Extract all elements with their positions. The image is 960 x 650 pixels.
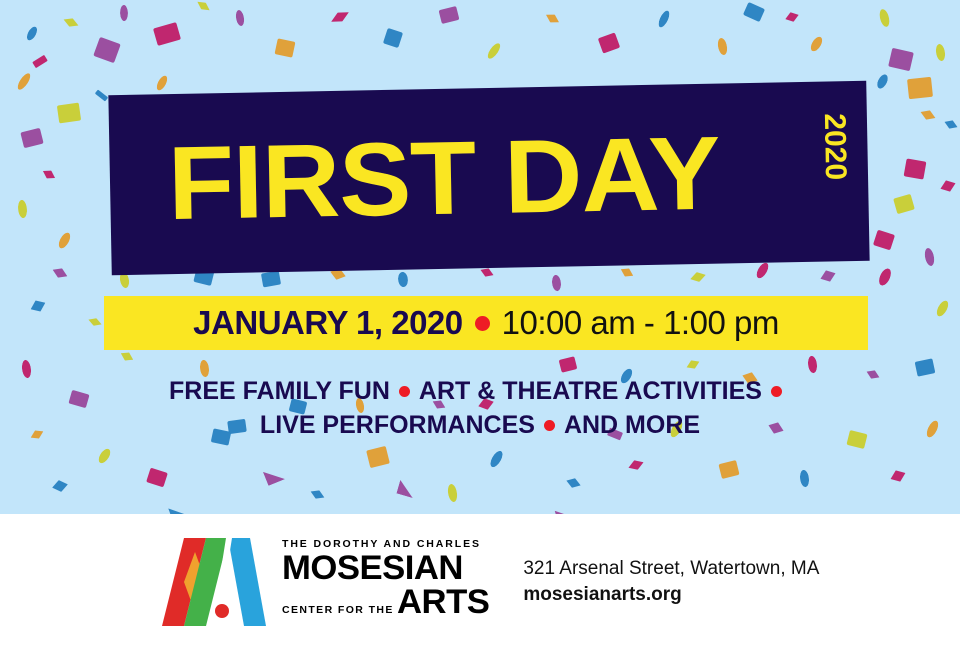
confetti-piece-square [383, 28, 403, 48]
confetti-piece-diamond [565, 476, 582, 490]
confetti-piece-leaf [120, 4, 129, 22]
venue-address-block: 321 Arsenal Street, Watertown, MA mosesi… [523, 556, 819, 608]
confetti-piece-diamond [195, 0, 212, 14]
confetti-piece-leaf [716, 36, 728, 56]
confetti-piece-diamond [938, 178, 957, 195]
first-day-2020-poster: FIRST DAY 2020 JANUARY 1, 2020 10:00 am … [0, 0, 960, 650]
title-banner: FIRST DAY 2020 [108, 81, 869, 276]
confetti-piece-leaf [875, 73, 890, 89]
mosesian-ma-logo-icon [162, 538, 266, 626]
confetti-piece-square [57, 103, 81, 124]
red-dot-separator-icon [475, 316, 490, 331]
event-time: 10:00 am - 1:00 pm [502, 304, 779, 342]
event-date: JANUARY 1, 2020 [193, 304, 462, 342]
confetti-piece-square [888, 48, 914, 71]
confetti-piece-leaf [155, 75, 170, 92]
confetti-piece-square [366, 446, 390, 468]
feature-and-more: AND MORE [564, 408, 700, 442]
confetti-piece-leaf [25, 25, 39, 41]
hero-background: FIRST DAY 2020 JANUARY 1, 2020 10:00 am … [0, 0, 960, 514]
confetti-piece-wedge [263, 465, 285, 486]
confetti-piece-leaf [877, 267, 894, 286]
confetti-piece-square [93, 37, 121, 63]
confetti-piece-diamond [689, 270, 707, 284]
confetti-piece-leaf [807, 355, 819, 375]
confetti-piece-leaf [17, 199, 28, 219]
features-line-2: LIVE PERFORMANCES AND MORE [0, 408, 960, 442]
confetti-piece-leaf [656, 10, 671, 29]
venue-website: mosesianarts.org [523, 582, 819, 608]
confetti-piece-leaf [56, 231, 72, 249]
confetti-piece-diamond [28, 297, 47, 314]
footer-bar: THE DOROTHY AND CHARLES MOSESIAN CENTER … [0, 514, 960, 650]
confetti-piece-diamond [309, 487, 326, 501]
confetti-piece-diamond [51, 478, 69, 493]
confetti-piece-bar [32, 55, 48, 68]
confetti-piece-diamond [943, 118, 959, 132]
features-list: FREE FAMILY FUN ART & THEATRE ACTIVITIES… [0, 374, 960, 442]
confetti-piece-leaf [799, 469, 811, 489]
feature-art-theatre-activities: ART & THEATRE ACTIVITIES [419, 374, 762, 408]
confetti-piece-leaf [15, 72, 32, 92]
confetti-piece-diamond [41, 167, 58, 182]
confetti-piece-diamond [685, 358, 701, 372]
confetti-piece-square [598, 32, 620, 53]
red-dot-separator-icon [399, 386, 410, 397]
wordmark-line-bottom: CENTER FOR THE ARTS [282, 585, 487, 627]
confetti-piece-wedge [555, 506, 574, 514]
confetti-piece-square [153, 22, 181, 46]
confetti-piece-leaf [397, 270, 410, 288]
features-line-1: FREE FAMILY FUN ART & THEATRE ACTIVITIES [0, 374, 960, 408]
confetti-piece-leaf [934, 43, 946, 63]
footer-content: THE DOROTHY AND CHARLES MOSESIAN CENTER … [162, 538, 819, 627]
feature-live-performances: LIVE PERFORMANCES [260, 408, 535, 442]
confetti-piece-wedge [396, 480, 416, 498]
confetti-piece-leaf [754, 261, 771, 279]
confetti-piece-diamond [784, 10, 800, 24]
confetti-piece-leaf [878, 7, 891, 28]
wordmark-arts: ARTS [397, 585, 489, 619]
confetti-piece-square [20, 128, 43, 148]
confetti-piece-square [893, 194, 915, 214]
confetti-piece-square [907, 77, 933, 99]
confetti-piece-square [718, 460, 739, 479]
confetti-piece-diamond [619, 265, 636, 280]
confetti-piece-diamond [888, 467, 907, 484]
confetti-piece-square [904, 158, 927, 179]
confetti-piece-square [261, 271, 281, 288]
confetti-piece-bar [95, 90, 108, 102]
confetti-piece-diamond [329, 8, 351, 26]
red-dot-separator-icon [771, 386, 782, 397]
confetti-piece-leaf [235, 9, 246, 28]
confetti-piece-leaf [808, 35, 824, 52]
confetti-piece-wedge [168, 503, 189, 514]
confetti-piece-square [873, 230, 895, 251]
confetti-piece-square [439, 6, 460, 24]
wordmark-line-mosesian: MOSESIAN [282, 551, 491, 585]
poster-year: 2020 [817, 113, 852, 180]
confetti-piece-leaf [96, 447, 112, 464]
mosesian-wordmark: THE DOROTHY AND CHARLES MOSESIAN CENTER … [282, 538, 487, 627]
confetti-piece-leaf [446, 483, 458, 504]
confetti-piece-leaf [934, 299, 950, 317]
confetti-piece-diamond [544, 11, 561, 26]
feature-free-family-fun: FREE FAMILY FUN [169, 374, 390, 408]
date-time-bar: JANUARY 1, 2020 10:00 am - 1:00 pm [104, 296, 868, 350]
confetti-piece-diamond [62, 15, 80, 29]
confetti-piece-leaf [485, 42, 502, 61]
confetti-piece-leaf [923, 246, 936, 267]
confetti-piece-diamond [119, 349, 136, 364]
confetti-piece-leaf [488, 449, 505, 468]
confetti-piece-diamond [627, 458, 645, 473]
confetti-piece-square [743, 2, 765, 22]
confetti-piece-diamond [818, 268, 837, 285]
wordmark-center-for-the: CENTER FOR THE [282, 593, 394, 627]
confetti-piece-diamond [51, 265, 70, 281]
poster-title: FIRST DAY [167, 100, 721, 259]
confetti-piece-square [146, 468, 168, 488]
confetti-piece-diamond [87, 316, 103, 328]
venue-address: 321 Arsenal Street, Watertown, MA [523, 556, 819, 582]
confetti-piece-square [559, 356, 578, 372]
confetti-piece-leaf [551, 274, 562, 293]
red-dot-separator-icon [544, 420, 555, 431]
confetti-piece-square [275, 38, 296, 57]
confetti-piece-diamond [919, 107, 938, 122]
